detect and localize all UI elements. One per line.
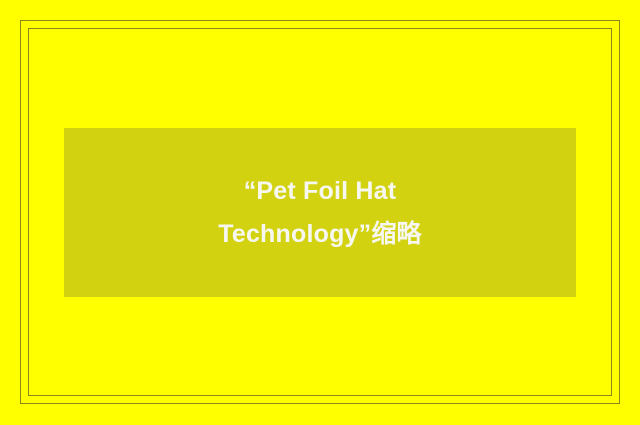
headline-text: “Pet Foil Hat Technology”缩略 <box>170 170 470 256</box>
headline-panel: “Pet Foil Hat Technology”缩略 <box>64 128 576 297</box>
promo-card: “Pet Foil Hat Technology”缩略 <box>0 0 640 425</box>
